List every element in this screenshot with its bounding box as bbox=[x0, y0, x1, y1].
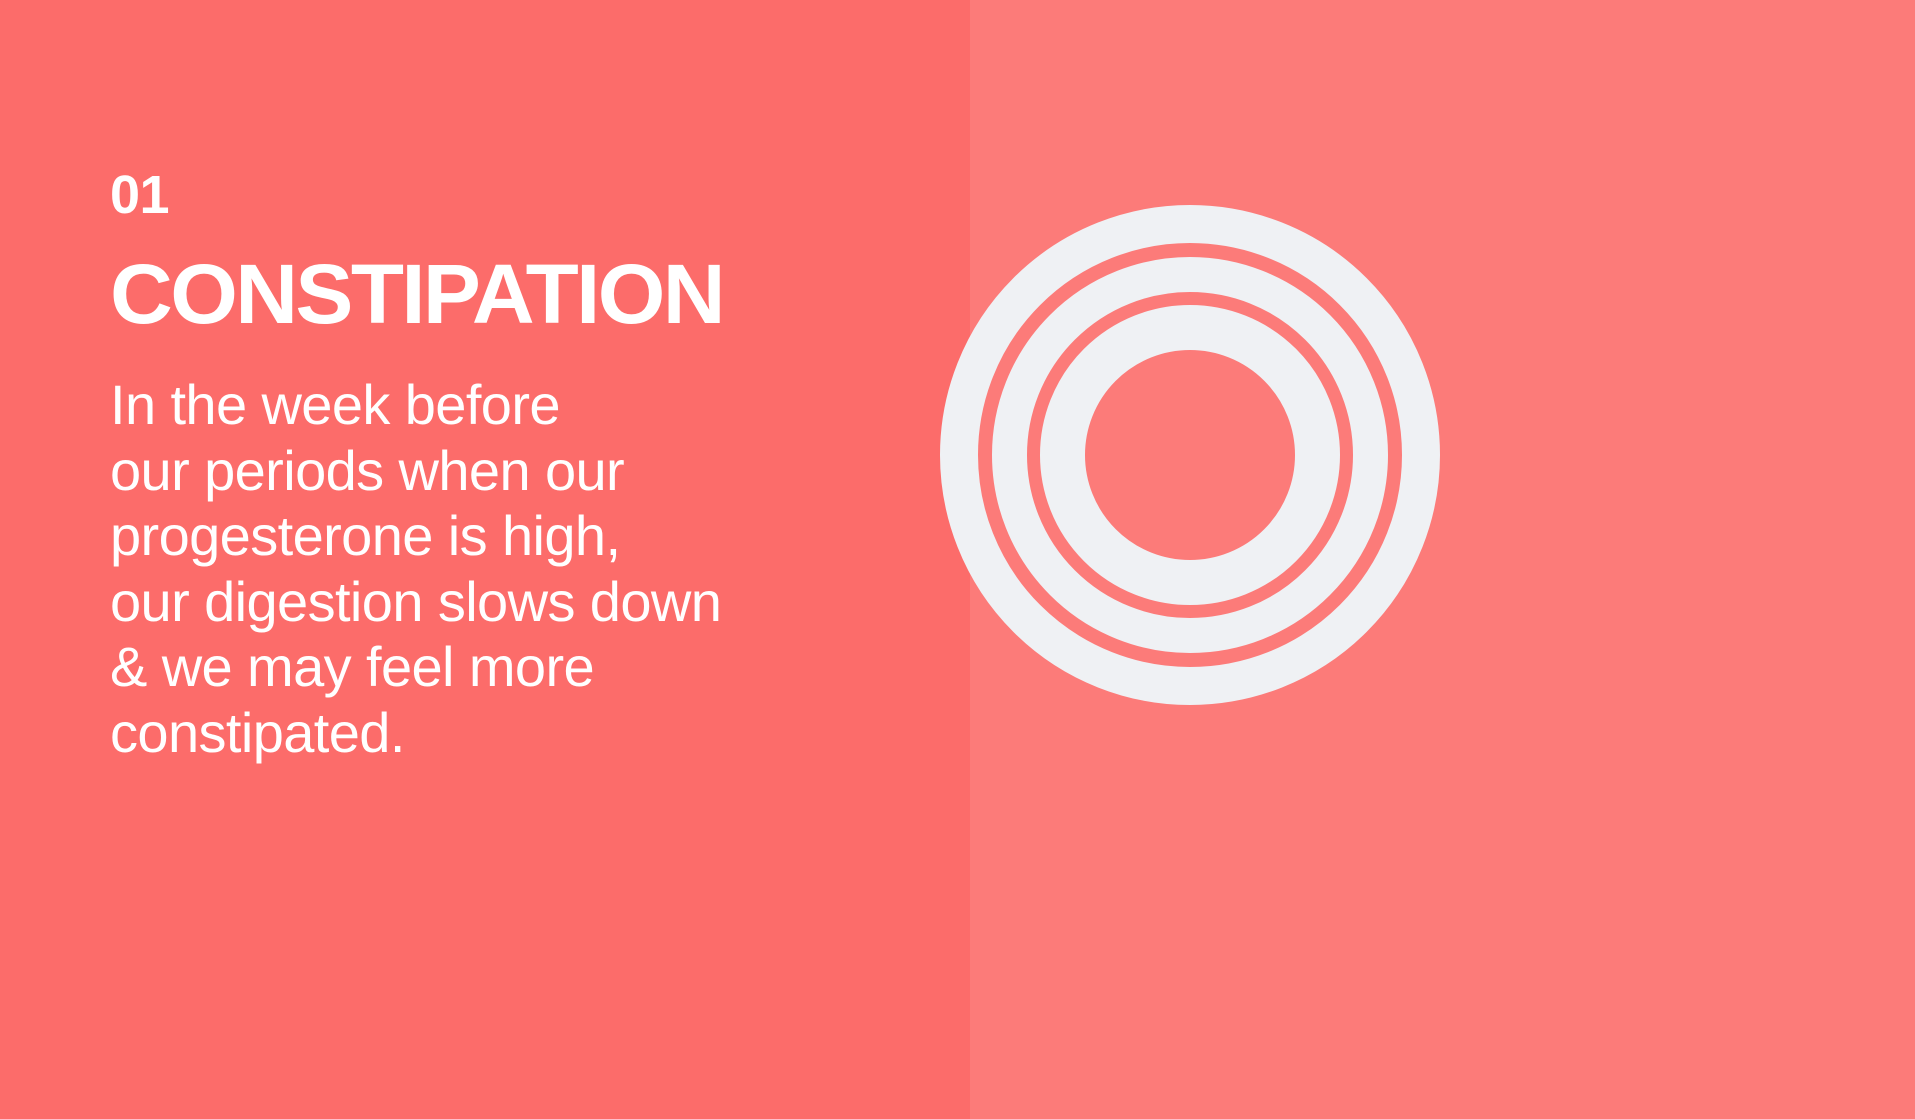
ring-inner bbox=[1063, 328, 1318, 583]
page-title: CONSTIPATION bbox=[110, 252, 959, 336]
concentric-target-rings-icon bbox=[940, 205, 1440, 705]
body-line: progesterone is high, bbox=[110, 503, 900, 569]
ring-outer bbox=[959, 224, 1421, 686]
body-line: our periods when our bbox=[110, 438, 900, 504]
step-number: 01 bbox=[110, 168, 930, 222]
target-rings-svg bbox=[940, 205, 1440, 705]
slide-root: 01 CONSTIPATION In the week before our p… bbox=[0, 0, 1915, 1119]
right-graphic-panel bbox=[970, 0, 1915, 1119]
body-line: & we may feel more bbox=[110, 634, 900, 700]
body-line: In the week before bbox=[110, 372, 900, 438]
body-line: our digestion slows down bbox=[110, 569, 900, 635]
body-paragraph: In the week before our periods when our … bbox=[110, 372, 900, 765]
body-line: constipated. bbox=[110, 700, 900, 766]
text-block: 01 CONSTIPATION In the week before our p… bbox=[110, 168, 930, 765]
left-content-panel: 01 CONSTIPATION In the week before our p… bbox=[0, 0, 970, 1119]
